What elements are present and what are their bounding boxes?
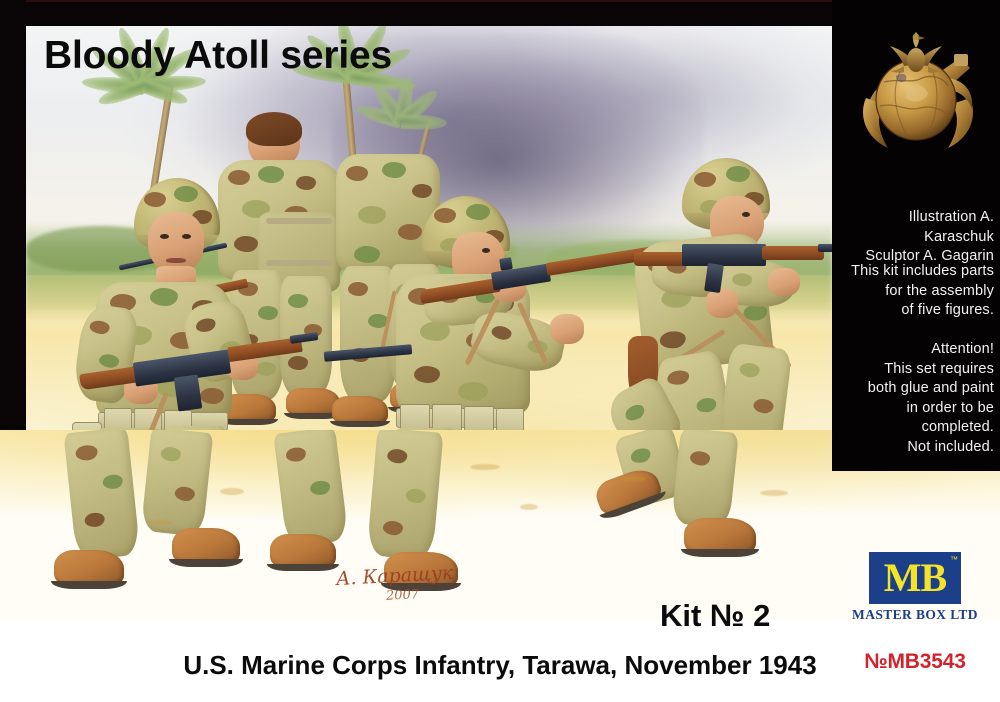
frame-left-border [0, 0, 26, 471]
marine-boot [684, 518, 756, 554]
attention-line-2: both glue and paint [838, 379, 994, 399]
usmc-eagle-globe-anchor-icon [848, 20, 988, 170]
smg-barrel [818, 244, 832, 252]
attention-line-4: completed. [838, 418, 994, 438]
marine-eye [742, 212, 750, 217]
marine-trousers [273, 430, 348, 547]
marine-boot [54, 550, 124, 586]
marine-trousers [63, 430, 140, 561]
sand-texture [520, 504, 538, 510]
smg-stock [634, 252, 688, 266]
parts-note-line-2: for the assembly [838, 282, 994, 302]
attention-line-5: Not included. [838, 438, 994, 458]
catalog-number: №MB3543 [849, 650, 981, 674]
attention-line-1: This set requires [838, 360, 994, 380]
sand-texture [470, 464, 500, 470]
attention-line-3: in order to be [838, 399, 994, 419]
cover-illustration [26, 26, 832, 471]
marine-figure-thompson [614, 158, 832, 471]
parts-note-line-1: This kit includes parts [838, 262, 994, 282]
kit-number: Kit № 2 [660, 598, 770, 634]
smg-foregrip [762, 246, 824, 260]
credits-block: Illustration A. Karaschuk Sculptor A. Ga… [838, 208, 994, 267]
marine-eye [482, 248, 490, 253]
marine-hand [706, 288, 738, 318]
marine-boot [172, 528, 240, 564]
sand-texture [150, 520, 172, 525]
boot-sole [169, 559, 242, 567]
marine-eye [160, 234, 169, 239]
sand-texture [620, 476, 646, 482]
marine-mouth [166, 258, 186, 263]
master-box-logo: MB ™ [869, 552, 961, 604]
marine-boot [270, 534, 336, 568]
marine-hair [246, 112, 302, 146]
artist-signature-year: 2007 [386, 587, 420, 604]
trademark-icon: ™ [950, 555, 958, 564]
rifle-rear-sight [499, 257, 513, 271]
series-title: Bloody Atoll series [44, 34, 392, 78]
master-box-company-name: MASTER BOX LTD [849, 607, 981, 623]
marine-trousers [671, 430, 739, 529]
sand-texture [220, 488, 244, 495]
marine-figure-bar-gunner [62, 178, 312, 471]
marine-eye [182, 234, 191, 239]
parts-note-line-3: of five figures. [838, 301, 994, 321]
foreground-legs-thompson [600, 430, 780, 590]
attention-heading: Attention! [838, 340, 994, 360]
box-art-root: Bloody Atoll series Illustration A. Kara… [0, 0, 1000, 702]
boot-sole [600, 491, 667, 522]
marine-hand [550, 314, 584, 344]
boot-sole [681, 549, 759, 557]
illustration-credit: Illustration A. Karaschuk [838, 208, 994, 247]
smg-receiver [682, 244, 766, 266]
sand-texture [760, 490, 788, 496]
boot-sole [267, 564, 338, 571]
parts-note-block: This kit includes parts for the assembly… [838, 262, 994, 321]
foreground-legs-bar-gunner [70, 430, 270, 610]
boot-sole [51, 581, 127, 589]
attention-block: Attention! This set requires both glue a… [838, 340, 994, 457]
rifle-magazine [174, 374, 202, 411]
master-box-logo-letters: MB [884, 558, 946, 598]
marine-hand [768, 268, 800, 296]
marine-face [148, 212, 204, 274]
marine-trousers [367, 430, 444, 561]
